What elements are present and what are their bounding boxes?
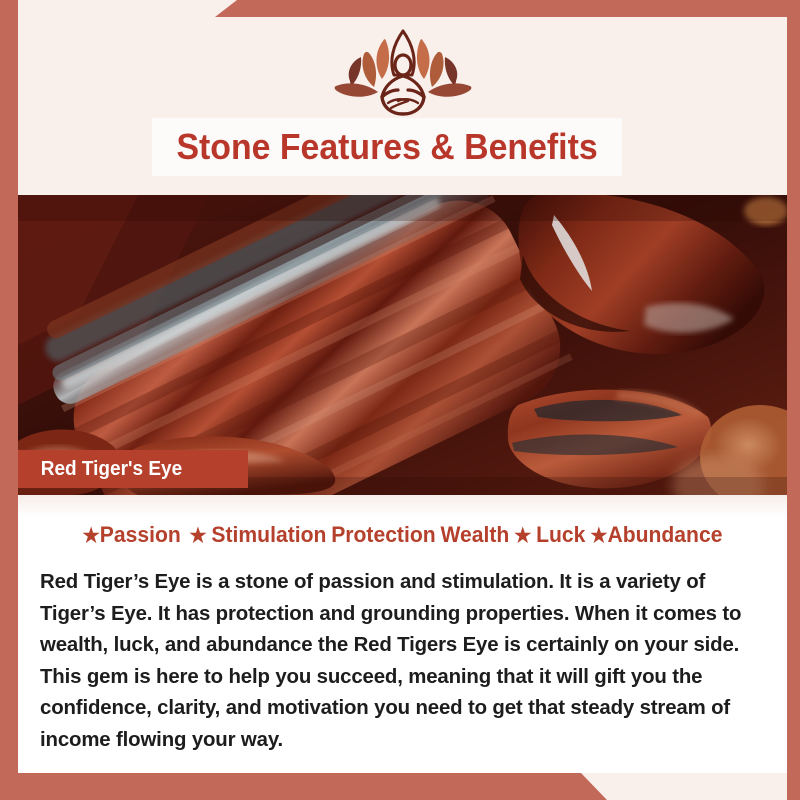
star-icon: ★: [590, 525, 607, 547]
description-text: Red Tiger’s Eye is a stone of passion an…: [40, 567, 761, 756]
frame-top-bar: [215, 0, 800, 17]
keyword-abundance: Abundance: [607, 522, 722, 547]
keyword-wealth: Wealth: [440, 522, 509, 547]
benefit-keywords: ★Passion★StimulationProtectionWealth★Luc…: [33, 522, 771, 548]
stone-name-band: Red Tiger's Eye: [18, 450, 248, 488]
stone-name: Red Tiger's Eye: [41, 458, 182, 481]
frame-bottom-bar: [0, 773, 607, 800]
star-icon: ★: [514, 525, 531, 547]
title-banner: Stone Features & Benefits: [152, 118, 622, 176]
page-title: Stone Features & Benefits: [176, 126, 597, 168]
lotus-meditation-icon: [328, 29, 478, 122]
keyword-passion: Passion: [100, 522, 181, 547]
frame-left-bar: [0, 0, 18, 800]
frame-right-bar: [787, 0, 800, 800]
keyword-stimulation: Stimulation: [211, 522, 326, 547]
infographic-card: BUDDHA STONES Stone Features & Benefits: [0, 0, 800, 800]
keyword-protection: Protection: [331, 522, 435, 547]
content-panel: ★Passion★StimulationProtectionWealth★Luc…: [18, 495, 787, 773]
keyword-luck: Luck: [536, 522, 585, 547]
panel-top-fade: [18, 495, 787, 517]
star-icon: ★: [189, 525, 206, 547]
star-icon: ★: [83, 525, 100, 547]
